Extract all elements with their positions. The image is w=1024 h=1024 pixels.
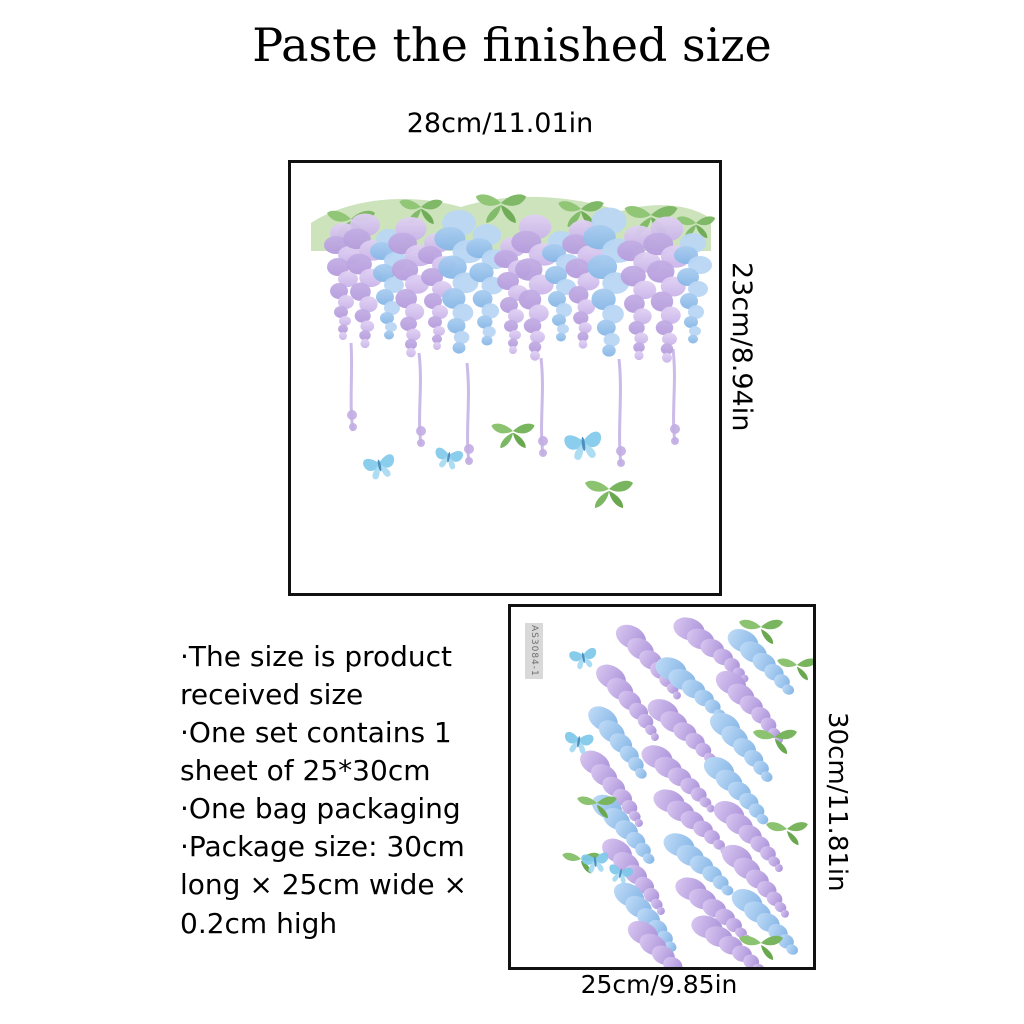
dimension-second-width: 25cm/9.85in <box>508 970 810 999</box>
page-title: Paste the finished size <box>0 18 1024 72</box>
sku-label: AS3084-1 <box>525 623 543 679</box>
wisteria-sheet-illustration <box>511 607 813 967</box>
sheet-preview-panel: AS3084-1 <box>508 604 816 970</box>
hanging-wisteria-illustration <box>291 163 719 593</box>
dimension-main-height: 23cm/8.94in <box>726 262 757 431</box>
main-preview-panel <box>288 160 722 596</box>
spec-description: ·The size is product received size ·One … <box>180 638 500 943</box>
dimension-second-height: 30cm/11.81in <box>822 712 852 892</box>
dimension-top-width: 28cm/11.01in <box>280 108 720 139</box>
